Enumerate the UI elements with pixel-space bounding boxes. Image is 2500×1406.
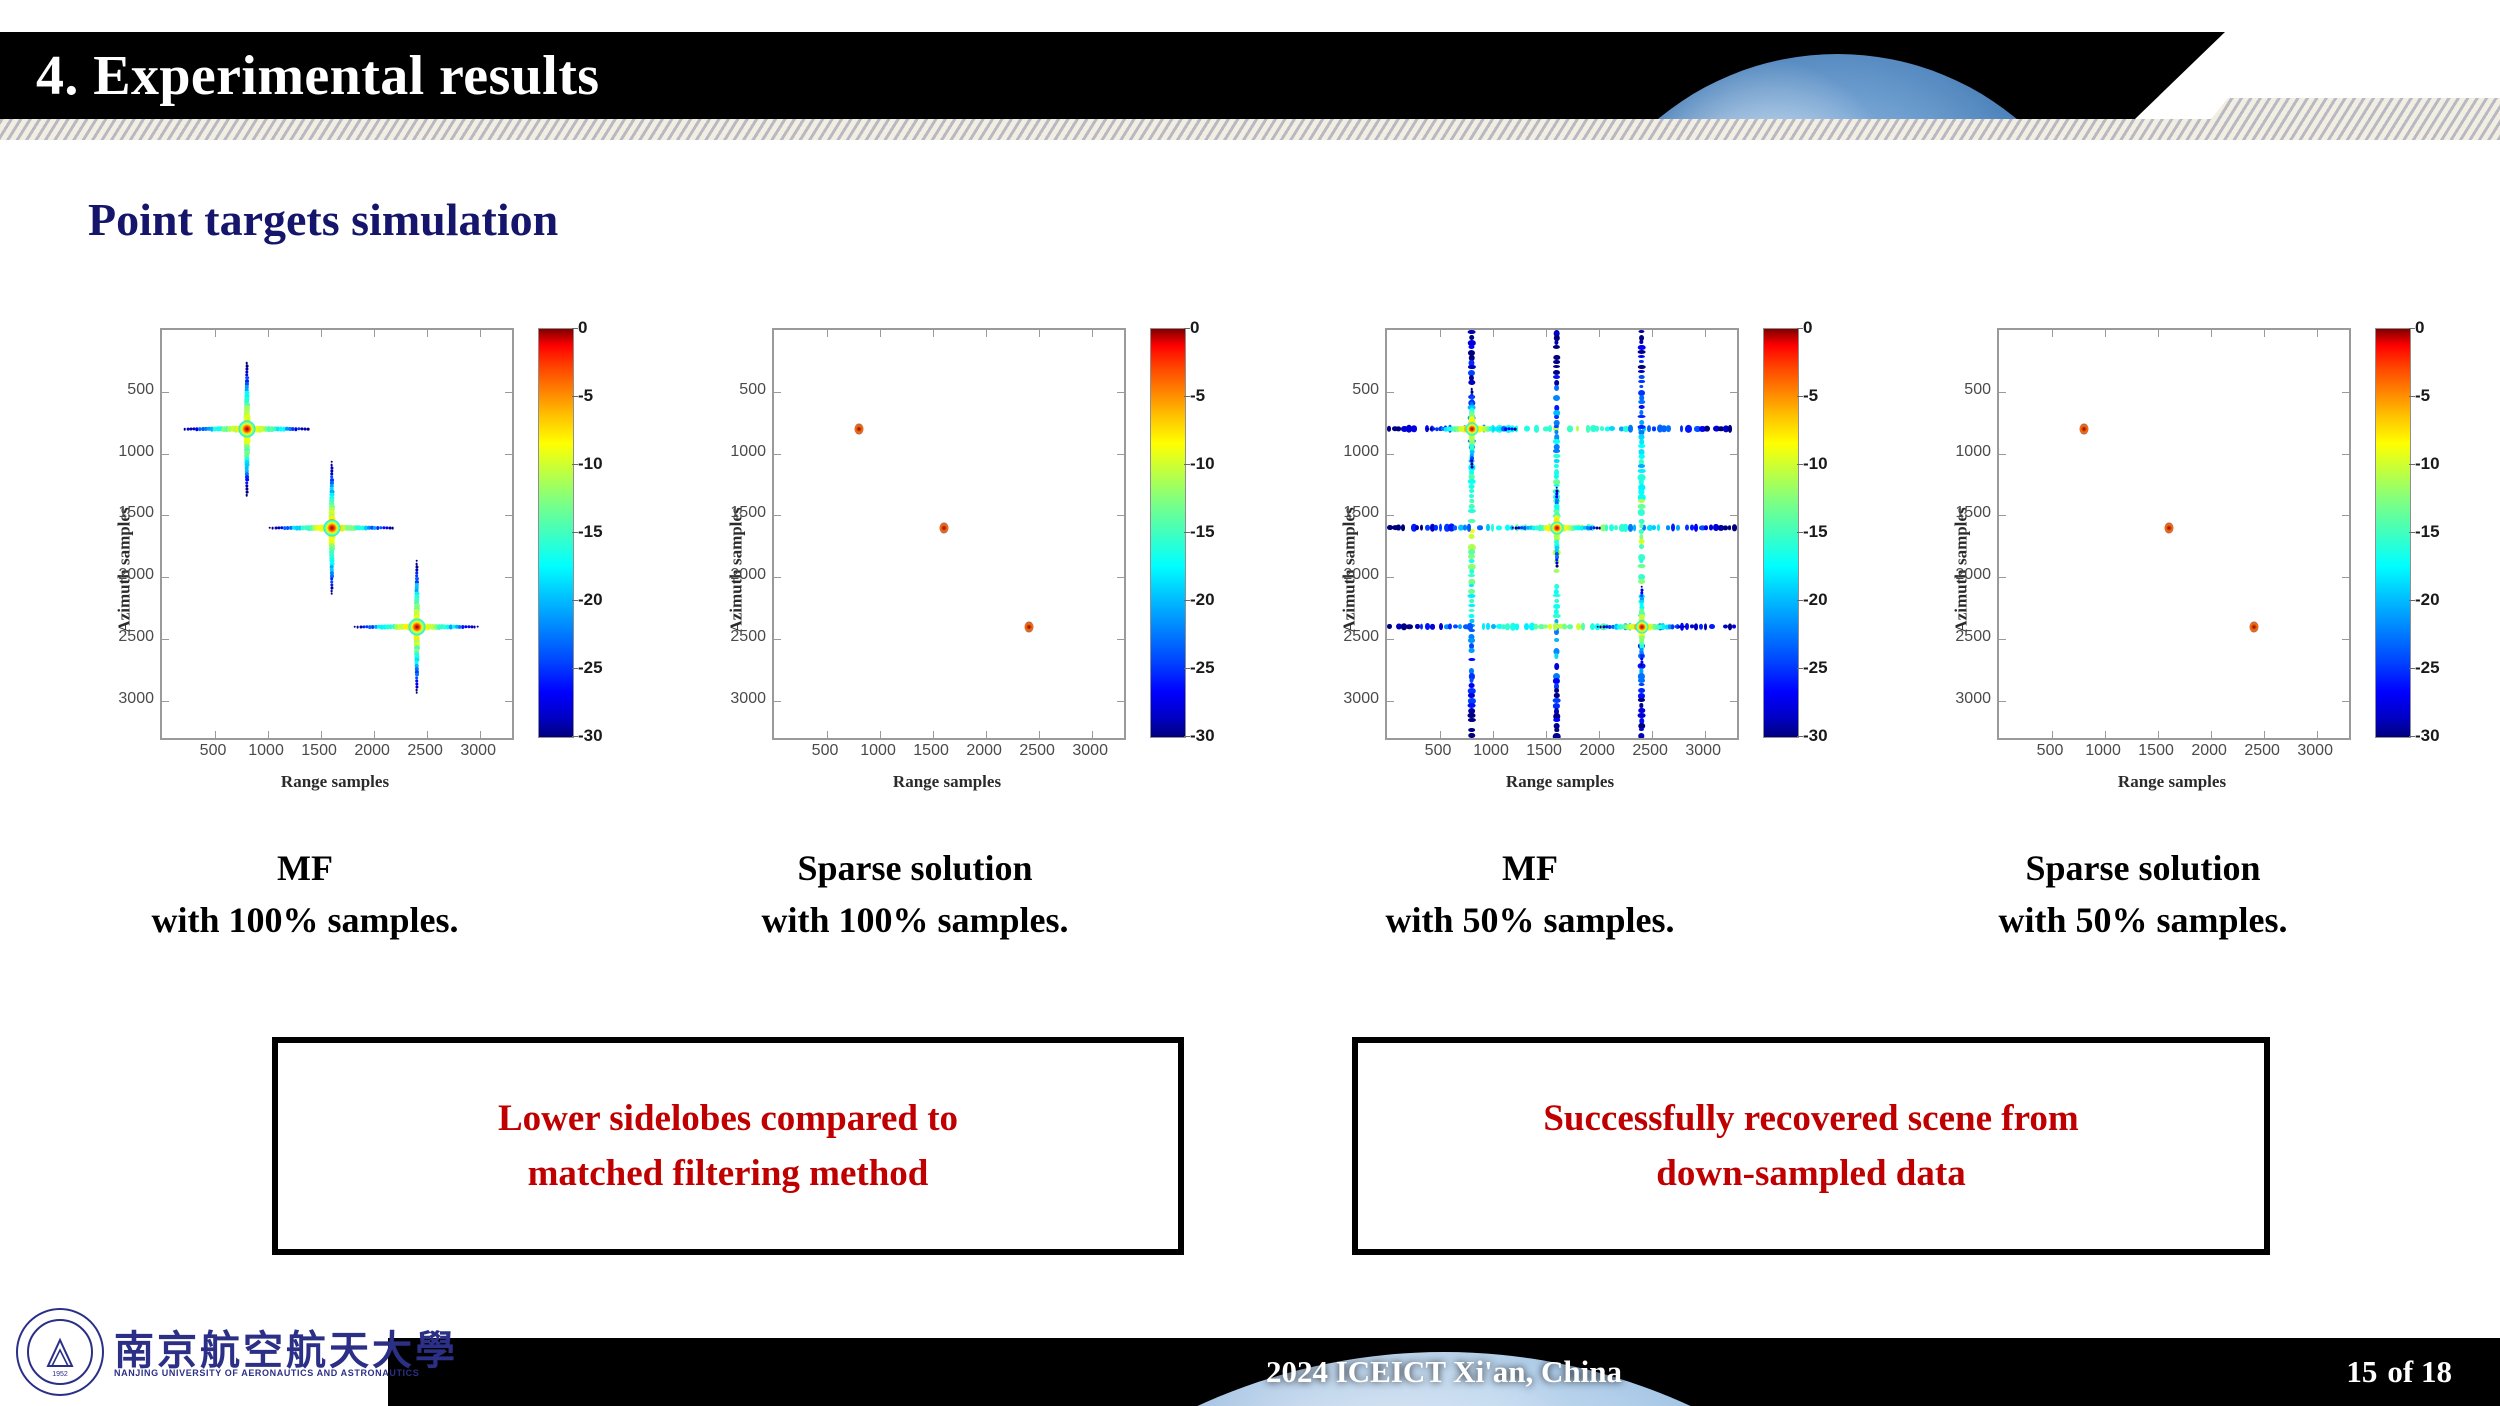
axis-tick-mark bbox=[1730, 639, 1737, 640]
x-tick-label: 2500 bbox=[2244, 742, 2280, 760]
x-tick-label: 1500 bbox=[913, 742, 949, 760]
target-marker bbox=[939, 522, 948, 533]
caption-line2: with 100% samples. bbox=[610, 894, 1220, 946]
y-tick-label: 2500 bbox=[118, 628, 154, 646]
colorbar-tick-mark bbox=[572, 736, 578, 737]
callout-line1: Lower sidelobes compared to bbox=[498, 1091, 958, 1147]
axis-tick-mark bbox=[1117, 454, 1124, 455]
colorbar-tick-label: -30 bbox=[578, 726, 603, 746]
colorbar-tick-mark bbox=[572, 396, 578, 397]
axis-tick-mark bbox=[505, 454, 512, 455]
x-tick-label: 1500 bbox=[1526, 742, 1562, 760]
axis-tick-mark bbox=[1652, 731, 1653, 738]
axis-tick-mark bbox=[880, 731, 881, 738]
axis-tick-mark bbox=[1039, 330, 1040, 337]
sidelobe-streak-vertical bbox=[1637, 330, 1646, 738]
axis-tick-mark bbox=[427, 731, 428, 738]
y-tick-label: 1000 bbox=[730, 443, 766, 461]
x-tick-label: 3000 bbox=[1685, 742, 1721, 760]
axis-tick-mark bbox=[1039, 731, 1040, 738]
axis-tick-mark bbox=[2342, 515, 2349, 516]
axis-tick-mark bbox=[480, 330, 481, 337]
colorbar-ticks: 0-5-10-15-20-25-30 bbox=[578, 328, 638, 736]
axis-tick-mark bbox=[1117, 639, 1124, 640]
colorbar-tick-label: -5 bbox=[1803, 386, 1818, 406]
page-number-indicator: 15 of 18 bbox=[2346, 1338, 2452, 1406]
figure-2: Azimuth samples5001000150020002500300050… bbox=[672, 320, 1282, 820]
figure-caption-1: MF with 100% samples. bbox=[0, 842, 610, 946]
axis-tick-mark bbox=[2317, 330, 2318, 337]
y-tick-label: 500 bbox=[739, 381, 766, 399]
colorbar-tick-mark bbox=[1184, 532, 1190, 533]
target-marker bbox=[2249, 621, 2258, 632]
axis-tick-mark bbox=[2342, 577, 2349, 578]
y-tick-label: 500 bbox=[127, 381, 154, 399]
colorbar-tick-mark bbox=[2409, 668, 2415, 669]
colorbar-tick-label: -25 bbox=[578, 658, 603, 678]
axis-tick-mark bbox=[1705, 731, 1706, 738]
axis-tick-mark bbox=[268, 731, 269, 738]
colorbar-tick-label: -20 bbox=[578, 590, 603, 610]
x-axis-ticks: 50010001500200025003000 bbox=[160, 742, 510, 766]
caption-line2: with 100% samples. bbox=[0, 894, 610, 946]
x-tick-label: 500 bbox=[200, 742, 227, 760]
axis-tick-mark bbox=[1546, 330, 1547, 337]
colorbar-tick-mark bbox=[1184, 328, 1190, 329]
axis-tick-mark bbox=[1999, 639, 2006, 640]
axis-tick-mark bbox=[2158, 330, 2159, 337]
axis-tick-mark bbox=[505, 577, 512, 578]
axis-tick-mark bbox=[374, 731, 375, 738]
axis-tick-mark bbox=[880, 330, 881, 337]
colorbar-tick-mark bbox=[2409, 328, 2415, 329]
colorbar-tick-mark bbox=[1797, 668, 1803, 669]
x-tick-label: 500 bbox=[1425, 742, 1452, 760]
target-point-spread-function bbox=[1598, 587, 1686, 667]
colorbar-tick-label: -20 bbox=[1803, 590, 1828, 610]
axis-tick-mark bbox=[774, 701, 781, 702]
colorbar-tick-mark bbox=[2409, 396, 2415, 397]
x-tick-label: 3000 bbox=[1072, 742, 1108, 760]
x-axis-label: Range samples bbox=[1997, 772, 2347, 792]
axis-tick-mark bbox=[1999, 701, 2006, 702]
y-tick-label: 1000 bbox=[1955, 443, 1991, 461]
plot-area bbox=[160, 328, 514, 740]
axis-tick-mark bbox=[1999, 392, 2006, 393]
slide-footer-bar: 2024 ICEICT Xi'an, China 15 of 18 bbox=[388, 1338, 2500, 1406]
colorbar-tick-label: 0 bbox=[1190, 318, 1199, 338]
axis-tick-mark bbox=[1999, 515, 2006, 516]
colorbar-tick-label: -25 bbox=[2415, 658, 2440, 678]
target-mainlobe bbox=[1465, 422, 1478, 435]
axis-tick-mark bbox=[2264, 330, 2265, 337]
axis-tick-mark bbox=[2342, 392, 2349, 393]
y-tick-label: 1500 bbox=[118, 504, 154, 522]
x-tick-label: 2500 bbox=[1632, 742, 1668, 760]
colorbar-tick-mark bbox=[1797, 736, 1803, 737]
colorbar-tick-mark bbox=[1184, 668, 1190, 669]
x-tick-label: 3000 bbox=[2297, 742, 2333, 760]
x-tick-label: 2000 bbox=[2191, 742, 2227, 760]
axis-tick-mark bbox=[933, 731, 934, 738]
y-tick-label: 3000 bbox=[1343, 690, 1379, 708]
figure-row: Azimuth samples5001000150020002500300050… bbox=[0, 320, 2500, 820]
colorbar-tick-mark bbox=[572, 532, 578, 533]
axis-tick-mark bbox=[162, 392, 169, 393]
university-name-en: NANJING UNIVERSITY OF AERONAUTICS AND AS… bbox=[114, 1368, 419, 1378]
y-tick-label: 2000 bbox=[1343, 566, 1379, 584]
target-marker bbox=[1024, 621, 1033, 632]
colorbar-tick-mark bbox=[1797, 396, 1803, 397]
axis-tick-mark bbox=[268, 330, 269, 337]
axis-tick-mark bbox=[162, 639, 169, 640]
axis-tick-mark bbox=[215, 731, 216, 738]
y-axis-ticks: 50010001500200025003000 bbox=[690, 320, 766, 820]
axis-tick-mark bbox=[1387, 392, 1394, 393]
colorbar-tick-label: -5 bbox=[1190, 386, 1205, 406]
axis-tick-mark bbox=[2264, 731, 2265, 738]
colorbar-tick-label: -5 bbox=[2415, 386, 2430, 406]
axis-tick-mark bbox=[162, 454, 169, 455]
figure-1: Azimuth samples5001000150020002500300050… bbox=[60, 320, 670, 820]
callout-box-1: Lower sidelobes compared to matched filt… bbox=[272, 1037, 1184, 1255]
axis-tick-mark bbox=[427, 330, 428, 337]
colorbar-tick-mark bbox=[572, 600, 578, 601]
axis-tick-mark bbox=[1387, 515, 1394, 516]
axis-tick-mark bbox=[1599, 731, 1600, 738]
colorbar-tick-mark bbox=[1797, 464, 1803, 465]
y-tick-label: 1500 bbox=[730, 504, 766, 522]
axis-tick-mark bbox=[2052, 731, 2053, 738]
y-tick-label: 500 bbox=[1352, 381, 1379, 399]
axis-tick-mark bbox=[1705, 330, 1706, 337]
axis-tick-mark bbox=[2342, 701, 2349, 702]
axis-tick-mark bbox=[1117, 577, 1124, 578]
y-tick-label: 500 bbox=[1964, 381, 1991, 399]
colorbar-tick-mark bbox=[1797, 328, 1803, 329]
x-axis-label: Range samples bbox=[1385, 772, 1735, 792]
page-total: of 18 bbox=[2387, 1354, 2452, 1390]
x-tick-label: 1000 bbox=[248, 742, 284, 760]
axis-tick-mark bbox=[2317, 731, 2318, 738]
axis-tick-mark bbox=[1440, 330, 1441, 337]
colorbar-tick-mark bbox=[1797, 532, 1803, 533]
y-tick-label: 2000 bbox=[1955, 566, 1991, 584]
y-tick-label: 1500 bbox=[1955, 504, 1991, 522]
colorbar-ticks: 0-5-10-15-20-25-30 bbox=[2415, 328, 2475, 736]
section-heading: Point targets simulation bbox=[88, 193, 558, 246]
university-logo: 1952 南京航空航天大學 NANJING UNIVERSITY OF AERO… bbox=[10, 1302, 380, 1398]
axis-tick-mark bbox=[827, 731, 828, 738]
callout-line2: matched filtering method bbox=[528, 1146, 929, 1202]
plot-area bbox=[772, 328, 1126, 740]
colorbar-tick-label: -30 bbox=[1190, 726, 1215, 746]
axis-tick-mark bbox=[986, 731, 987, 738]
target-marker bbox=[854, 423, 863, 434]
axis-tick-mark bbox=[321, 731, 322, 738]
axis-tick-mark bbox=[2105, 330, 2106, 337]
x-axis-ticks: 50010001500200025003000 bbox=[1385, 742, 1735, 766]
x-axis-label: Range samples bbox=[160, 772, 510, 792]
axis-tick-mark bbox=[774, 392, 781, 393]
y-tick-label: 2000 bbox=[730, 566, 766, 584]
colorbar-tick-label: -10 bbox=[2415, 454, 2440, 474]
plot-area bbox=[1997, 328, 2351, 740]
colorbar bbox=[1763, 328, 1799, 738]
colorbar-tick-label: -15 bbox=[1803, 522, 1828, 542]
target-point-spread-function bbox=[1513, 488, 1601, 568]
caption-line2: with 50% samples. bbox=[1838, 894, 2448, 946]
colorbar-tick-label: -10 bbox=[1190, 454, 1215, 474]
colorbar-tick-mark bbox=[2409, 600, 2415, 601]
colorbar-tick-label: -15 bbox=[1190, 522, 1215, 542]
page-title: 4. Experimental results bbox=[36, 44, 599, 108]
axis-tick-mark bbox=[1117, 701, 1124, 702]
x-tick-label: 1000 bbox=[860, 742, 896, 760]
header-globe-image bbox=[1495, 32, 2135, 119]
caption-line1: Sparse solution bbox=[2025, 848, 2260, 888]
svg-text:1952: 1952 bbox=[52, 1371, 68, 1378]
colorbar-tick-label: -15 bbox=[2415, 522, 2440, 542]
x-tick-label: 1500 bbox=[301, 742, 337, 760]
colorbar-tick-label: -30 bbox=[1803, 726, 1828, 746]
axis-tick-mark bbox=[986, 330, 987, 337]
axis-tick-mark bbox=[2052, 330, 2053, 337]
axis-tick-mark bbox=[2342, 639, 2349, 640]
axis-tick-mark bbox=[1387, 701, 1394, 702]
axis-tick-mark bbox=[1493, 731, 1494, 738]
axis-tick-mark bbox=[505, 515, 512, 516]
colorbar bbox=[2375, 328, 2411, 738]
colorbar-tick-mark bbox=[572, 464, 578, 465]
axis-tick-mark bbox=[1652, 330, 1653, 337]
axis-tick-mark bbox=[1117, 392, 1124, 393]
axis-tick-mark bbox=[1730, 515, 1737, 516]
y-tick-label: 2500 bbox=[1343, 628, 1379, 646]
x-tick-label: 500 bbox=[2037, 742, 2064, 760]
figure-caption-3: MF with 50% samples. bbox=[1225, 842, 1835, 946]
target-mainlobe bbox=[238, 420, 255, 437]
axis-tick-mark bbox=[1387, 577, 1394, 578]
figure-4: Azimuth samples5001000150020002500300050… bbox=[1897, 320, 2500, 820]
axis-tick-mark bbox=[1387, 454, 1394, 455]
colorbar-tick-label: -5 bbox=[578, 386, 593, 406]
colorbar-tick-label: 0 bbox=[2415, 318, 2424, 338]
axis-tick-mark bbox=[774, 639, 781, 640]
colorbar-tick-label: -10 bbox=[578, 454, 603, 474]
axis-tick-mark bbox=[1117, 515, 1124, 516]
plot-area bbox=[1385, 328, 1739, 740]
axis-tick-mark bbox=[1092, 330, 1093, 337]
colorbar-tick-mark bbox=[2409, 736, 2415, 737]
figure-caption-2: Sparse solution with 100% samples. bbox=[610, 842, 1220, 946]
target-mainlobe bbox=[1550, 521, 1563, 534]
target-marker bbox=[2164, 522, 2173, 533]
colorbar-tick-mark bbox=[1184, 396, 1190, 397]
target-mainlobe bbox=[408, 618, 425, 635]
x-tick-label: 1000 bbox=[1473, 742, 1509, 760]
axis-tick-mark bbox=[162, 515, 169, 516]
axis-tick-mark bbox=[374, 330, 375, 337]
callout-line1: Successfully recovered scene from bbox=[1543, 1091, 2078, 1147]
axis-tick-mark bbox=[1440, 731, 1441, 738]
y-tick-label: 3000 bbox=[1955, 690, 1991, 708]
colorbar-tick-mark bbox=[1184, 736, 1190, 737]
colorbar-tick-label: -30 bbox=[2415, 726, 2440, 746]
caption-line1: MF bbox=[1502, 848, 1558, 888]
y-tick-label: 2000 bbox=[118, 566, 154, 584]
colorbar-tick-label: 0 bbox=[578, 318, 587, 338]
axis-tick-mark bbox=[1730, 701, 1737, 702]
colorbar-tick-mark bbox=[1797, 600, 1803, 601]
callout-box-2: Successfully recovered scene from down-s… bbox=[1352, 1037, 2270, 1255]
axis-tick-mark bbox=[774, 577, 781, 578]
colorbar-ticks: 0-5-10-15-20-25-30 bbox=[1190, 328, 1250, 736]
x-axis-ticks: 50010001500200025003000 bbox=[1997, 742, 2347, 766]
axis-tick-mark bbox=[1999, 577, 2006, 578]
axis-tick-mark bbox=[774, 515, 781, 516]
axis-tick-mark bbox=[162, 701, 169, 702]
axis-tick-mark bbox=[1546, 731, 1547, 738]
target-mainlobe bbox=[1635, 620, 1648, 633]
x-tick-label: 2000 bbox=[354, 742, 390, 760]
header-notch bbox=[2135, 32, 2225, 119]
y-tick-label: 3000 bbox=[118, 690, 154, 708]
colorbar-tick-mark bbox=[1184, 600, 1190, 601]
axis-tick-mark bbox=[162, 577, 169, 578]
axis-tick-mark bbox=[2158, 731, 2159, 738]
footer-conference-label: 2024 ICEICT Xi'an, China bbox=[388, 1338, 2500, 1406]
colorbar-tick-mark bbox=[2409, 532, 2415, 533]
y-tick-label: 2500 bbox=[730, 628, 766, 646]
axis-tick-mark bbox=[1387, 639, 1394, 640]
axis-tick-mark bbox=[827, 330, 828, 337]
y-axis-ticks: 50010001500200025003000 bbox=[1303, 320, 1379, 820]
caption-line1: Sparse solution bbox=[797, 848, 1032, 888]
x-tick-label: 1500 bbox=[2138, 742, 2174, 760]
target-point-spread-function bbox=[355, 561, 479, 693]
y-axis-ticks: 50010001500200025003000 bbox=[1915, 320, 1991, 820]
colorbar-tick-label: -20 bbox=[1190, 590, 1215, 610]
axis-tick-mark bbox=[933, 330, 934, 337]
target-mainlobe bbox=[323, 519, 340, 536]
x-tick-label: 2500 bbox=[1019, 742, 1055, 760]
callout-line2: down-sampled data bbox=[1656, 1146, 1965, 1202]
axis-tick-mark bbox=[774, 454, 781, 455]
x-axis-ticks: 50010001500200025003000 bbox=[772, 742, 1122, 766]
colorbar bbox=[1150, 328, 1186, 738]
axis-tick-mark bbox=[505, 639, 512, 640]
y-tick-label: 1000 bbox=[1343, 443, 1379, 461]
y-tick-label: 1000 bbox=[118, 443, 154, 461]
colorbar-tick-mark bbox=[572, 668, 578, 669]
colorbar-tick-mark bbox=[572, 328, 578, 329]
axis-tick-mark bbox=[1730, 577, 1737, 578]
x-tick-label: 2500 bbox=[407, 742, 443, 760]
axis-tick-mark bbox=[1092, 731, 1093, 738]
colorbar-tick-label: -25 bbox=[1190, 658, 1215, 678]
colorbar-tick-label: -20 bbox=[2415, 590, 2440, 610]
figure-caption-4: Sparse solution with 50% samples. bbox=[1838, 842, 2448, 946]
axis-tick-mark bbox=[2342, 454, 2349, 455]
colorbar-tick-label: 0 bbox=[1803, 318, 1812, 338]
colorbar-tick-label: -15 bbox=[578, 522, 603, 542]
axis-tick-mark bbox=[2211, 330, 2212, 337]
axis-tick-mark bbox=[1493, 330, 1494, 337]
x-axis-label: Range samples bbox=[772, 772, 1122, 792]
y-axis-ticks: 50010001500200025003000 bbox=[78, 320, 154, 820]
axis-tick-mark bbox=[321, 330, 322, 337]
caption-line2: with 50% samples. bbox=[1225, 894, 1835, 946]
header-stripe bbox=[0, 119, 2500, 140]
axis-tick-mark bbox=[1999, 454, 2006, 455]
axis-tick-mark bbox=[1730, 454, 1737, 455]
axis-tick-mark bbox=[1730, 392, 1737, 393]
target-point-spread-function bbox=[1428, 389, 1516, 469]
colorbar-tick-label: -25 bbox=[1803, 658, 1828, 678]
caption-line1: MF bbox=[277, 848, 333, 888]
nuaa-seal-icon: 1952 bbox=[16, 1308, 104, 1396]
colorbar-tick-mark bbox=[2409, 464, 2415, 465]
axis-tick-mark bbox=[505, 701, 512, 702]
axis-tick-mark bbox=[215, 330, 216, 337]
y-tick-label: 2500 bbox=[1955, 628, 1991, 646]
y-tick-label: 1500 bbox=[1343, 504, 1379, 522]
axis-tick-mark bbox=[2105, 731, 2106, 738]
x-tick-label: 2000 bbox=[966, 742, 1002, 760]
axis-tick-mark bbox=[1599, 330, 1600, 337]
x-tick-label: 3000 bbox=[460, 742, 496, 760]
x-tick-label: 2000 bbox=[1579, 742, 1615, 760]
x-tick-label: 500 bbox=[812, 742, 839, 760]
axis-tick-mark bbox=[480, 731, 481, 738]
axis-tick-mark bbox=[505, 392, 512, 393]
y-tick-label: 3000 bbox=[730, 690, 766, 708]
target-marker bbox=[2079, 423, 2088, 434]
figure-3: Azimuth samples5001000150020002500300050… bbox=[1285, 320, 1895, 820]
colorbar-ticks: 0-5-10-15-20-25-30 bbox=[1803, 328, 1863, 736]
colorbar-tick-label: -10 bbox=[1803, 454, 1828, 474]
axis-tick-mark bbox=[2211, 731, 2212, 738]
x-tick-label: 1000 bbox=[2085, 742, 2121, 760]
colorbar bbox=[538, 328, 574, 738]
colorbar-tick-mark bbox=[1184, 464, 1190, 465]
page-number: 15 bbox=[2346, 1354, 2377, 1390]
